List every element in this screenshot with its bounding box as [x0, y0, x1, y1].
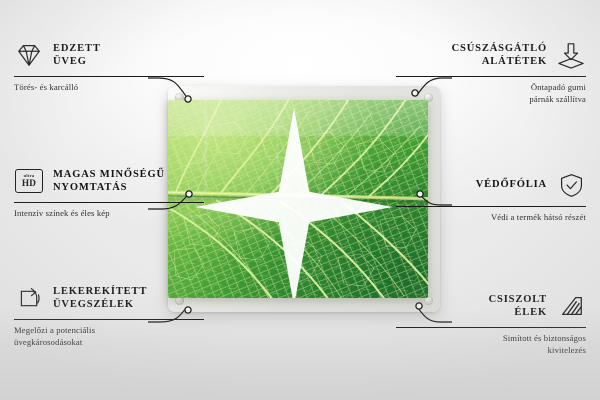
feature-header: EDZETT ÜVEG: [14, 40, 204, 70]
feature-subtitle: Törés- és karcálló: [14, 82, 204, 94]
feature-header: CSISZOLT ÉLEK: [396, 291, 586, 321]
feature-subtitle: Öntapadó gumi párnák szállítva: [396, 82, 586, 105]
feature-rounded-glass-edges: LEKEREKÍTETT ÜVEGSZÉLEK Megelőzi a poten…: [14, 283, 204, 348]
feature-title: CSÚSZÁSGÁTLÓ ALÁTÉTEK: [452, 42, 547, 69]
feature-title: CSISZOLT ÉLEK: [489, 293, 547, 320]
ultra-hd-icon: ultra HD: [14, 166, 44, 196]
feature-polished-edges: CSISZOLT ÉLEK Simított és biztonságos ki…: [396, 291, 586, 356]
feature-header: VÉDŐFÓLIA: [396, 170, 586, 200]
feature-title: VÉDŐFÓLIA: [476, 178, 547, 192]
feature-title: MAGAS MINŐSÉGŰ NYOMTATÁS: [53, 168, 165, 195]
shield-check-icon: [556, 170, 586, 200]
feature-subtitle: Megelőzi a potenciális üvegkárosodásokat: [14, 325, 204, 348]
hatched-edge-icon: [556, 291, 586, 321]
feature-rule: [14, 76, 204, 77]
feature-header: CSÚSZÁSGÁTLÓ ALÁTÉTEK: [396, 40, 586, 70]
hd-badge-main: HD: [22, 179, 36, 188]
feature-protective-film: VÉDŐFÓLIA Védi a termék hátsó részét: [396, 170, 586, 224]
feature-title: EDZETT ÜVEG: [53, 42, 101, 69]
product-infographic: EDZETT ÜVEG Törés- és karcálló ultra HD …: [0, 0, 600, 400]
leaf-photo: [168, 100, 428, 298]
diamond-icon: [14, 40, 44, 70]
feature-rule: [396, 76, 586, 77]
feature-rule: [14, 319, 204, 320]
feature-header: ultra HD MAGAS MINŐSÉGŰ NYOMTATÁS: [14, 166, 204, 196]
feature-rule: [396, 327, 586, 328]
press-pad-icon: [556, 40, 586, 70]
feature-subtitle: Simított és biztonságos kivitelezés: [396, 333, 586, 356]
feature-rule: [396, 206, 586, 207]
rounded-corner-icon: [14, 283, 44, 313]
feature-header: LEKEREKÍTETT ÜVEGSZÉLEK: [14, 283, 204, 313]
feature-anti-slip-pads: CSÚSZÁSGÁTLÓ ALÁTÉTEK Öntapadó gumi párn…: [396, 40, 586, 105]
feature-high-quality-print: ultra HD MAGAS MINŐSÉGŰ NYOMTATÁS Intenz…: [14, 166, 204, 220]
feature-title: LEKEREKÍTETT ÜVEGSZÉLEK: [53, 285, 147, 312]
feature-tempered-glass: EDZETT ÜVEG Törés- és karcálló: [14, 40, 204, 94]
feature-rule: [14, 202, 204, 203]
feature-subtitle: Védi a termék hátsó részét: [396, 212, 586, 224]
feature-subtitle: Intenzív színek és éles kép: [14, 208, 204, 220]
